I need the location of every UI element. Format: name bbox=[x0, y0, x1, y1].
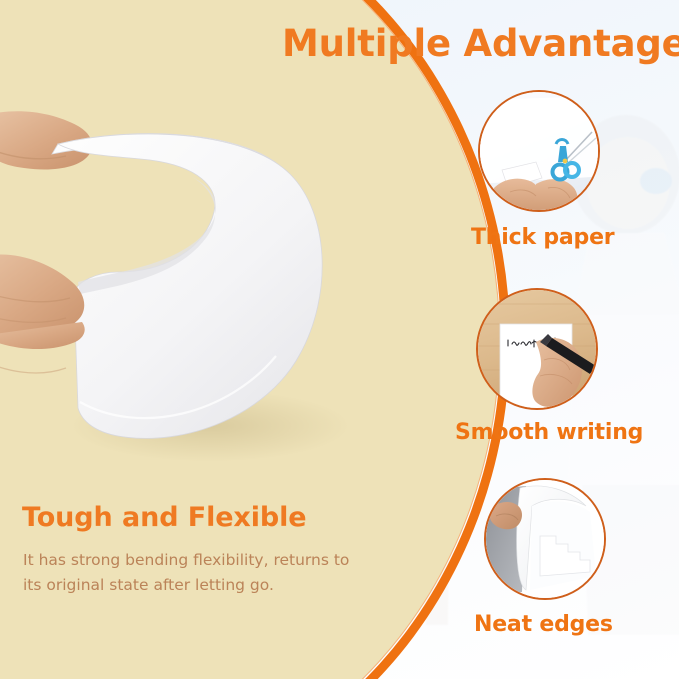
cutting-paper-illustration bbox=[480, 92, 600, 212]
page-title: Multiple Advantages bbox=[282, 24, 674, 65]
left-section-heading: Tough and Flexible bbox=[22, 502, 307, 533]
feature-thick-paper-image bbox=[478, 90, 600, 212]
feature-neat-edges-image bbox=[484, 478, 606, 600]
hero-bending-paper-photo bbox=[0, 96, 360, 466]
writing-illustration bbox=[478, 290, 598, 410]
left-section-body: It has strong bending flexibility, retur… bbox=[23, 548, 353, 598]
feature-neat-edges-label: Neat edges bbox=[474, 612, 613, 637]
advantages-poster: Multiple Advantages Tough and Flexible I… bbox=[0, 0, 679, 679]
feature-smooth-writing-label: Smooth writing bbox=[455, 420, 643, 445]
peeling-paper-illustration bbox=[486, 480, 606, 600]
feature-thick-paper-label: Thick paper bbox=[471, 225, 614, 250]
feature-smooth-writing-image bbox=[476, 288, 598, 410]
